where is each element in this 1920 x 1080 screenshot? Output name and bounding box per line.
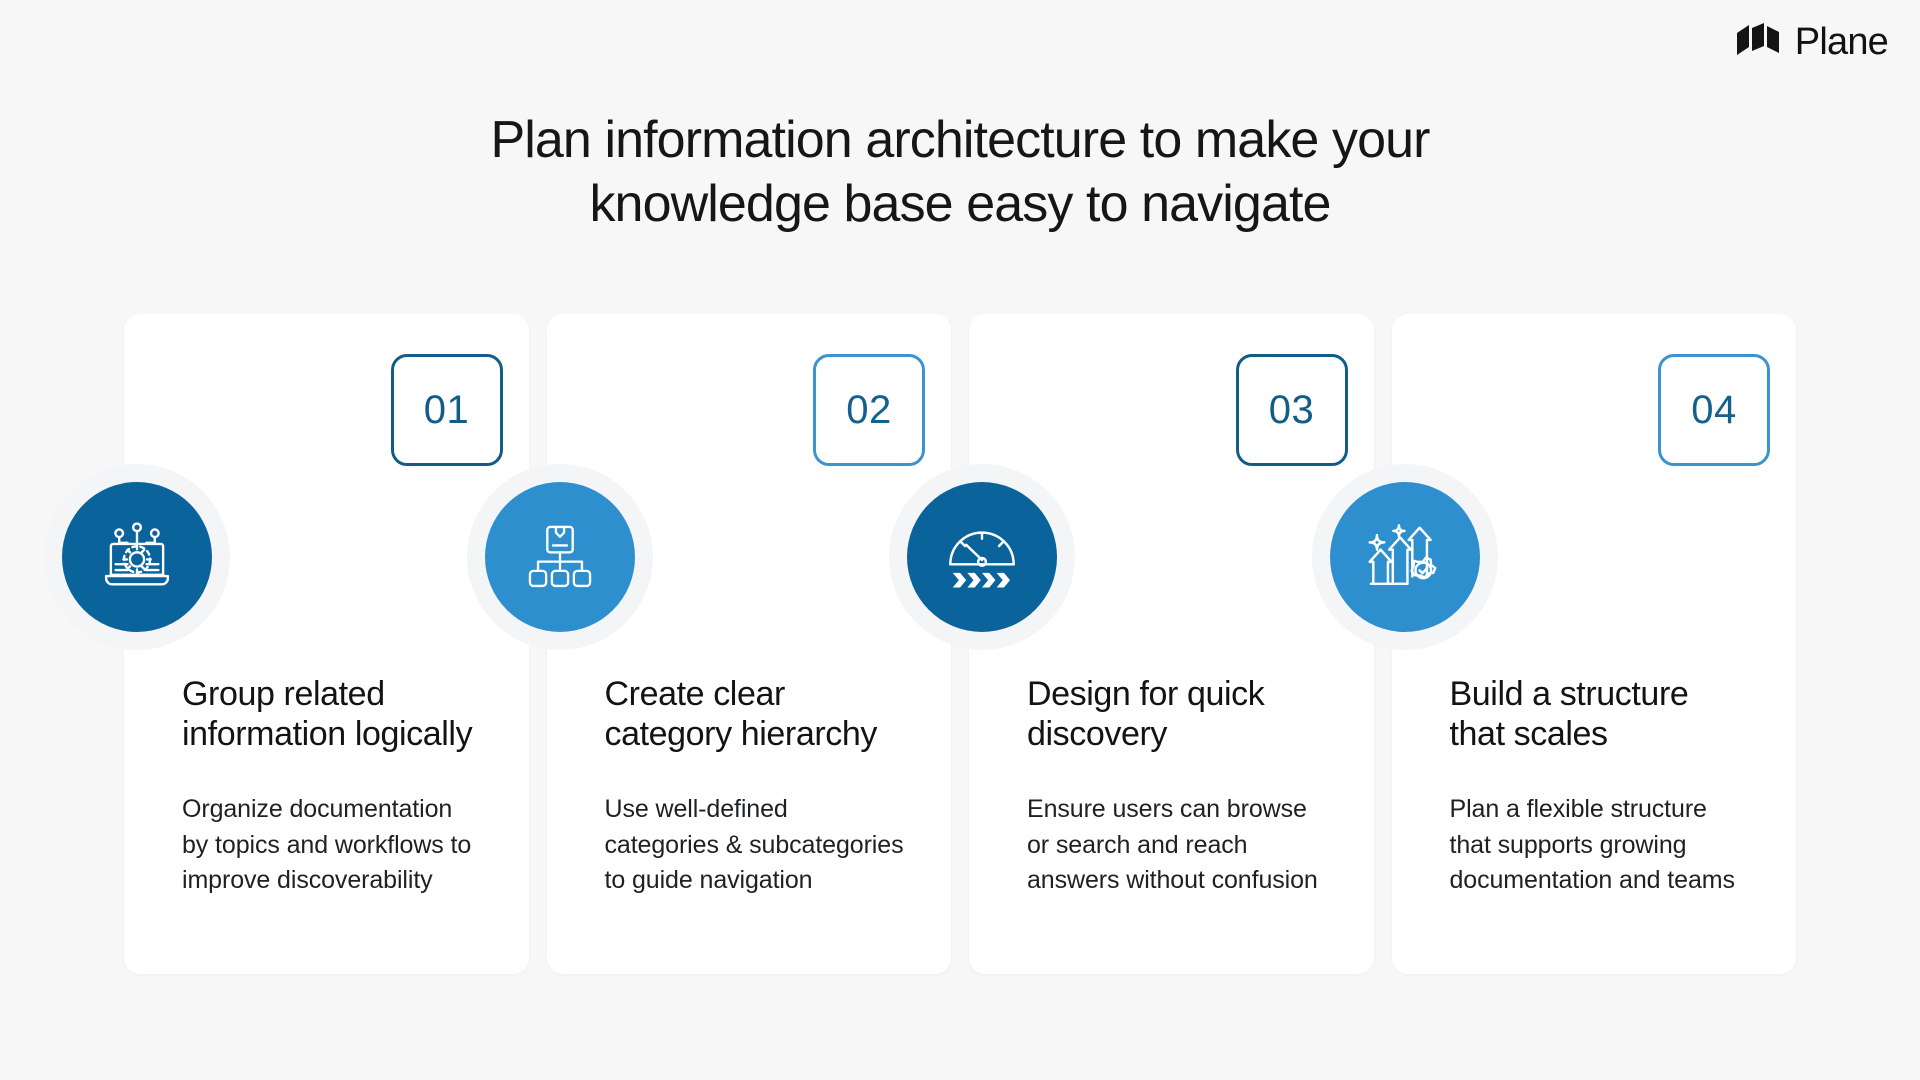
step-card-text: Create clear category hierarchy Use well… xyxy=(605,674,918,899)
step-body: Plan a flexible structure that supports … xyxy=(1450,792,1763,899)
step-heading: Build a structure that scales xyxy=(1450,674,1763,754)
step-card-02: 02 Create clear category hierarchy Use w… xyxy=(547,314,952,974)
step-card-text: Build a structure that scales Plan a fle… xyxy=(1450,674,1763,899)
step-heading: Create clear category hierarchy xyxy=(605,674,918,754)
step-heading: Design for quick discovery xyxy=(1027,674,1340,754)
step-card-04: 04 Build a structure that scales Plan a … xyxy=(1392,314,1797,974)
hierarchy-tree-icon xyxy=(485,482,635,632)
step-card-text: Design for quick discovery Ensure users … xyxy=(1027,674,1340,899)
step-number-badge: 04 xyxy=(1658,354,1770,466)
step-body: Use well-defined categories & subcategor… xyxy=(605,792,918,899)
step-card-list: 01 Group related info xyxy=(124,314,1796,974)
brand-name: Plane xyxy=(1795,23,1888,61)
brand-logo: Plane xyxy=(1736,22,1888,61)
laptop-gear-network-icon xyxy=(62,482,212,632)
step-card-01: 01 Group related info xyxy=(124,314,529,974)
step-card-03: 03 xyxy=(969,314,1374,974)
step-card-text: Group related information logically Orga… xyxy=(182,674,495,899)
page-title-line-1: Plan information architecture to make yo… xyxy=(0,108,1920,172)
step-number-badge: 02 xyxy=(813,354,925,466)
step-body: Ensure users can browse or search and re… xyxy=(1027,792,1340,899)
step-body: Organize documentation by topics and wor… xyxy=(182,792,495,899)
speedometer-gauge-icon xyxy=(907,482,1057,632)
infographic-stage: Plane Plan information architecture to m… xyxy=(0,0,1920,1080)
step-number-badge: 01 xyxy=(391,354,503,466)
page-title-line-2: knowledge base easy to navigate xyxy=(0,172,1920,236)
plane-logo-icon xyxy=(1736,22,1782,61)
page-title: Plan information architecture to make yo… xyxy=(0,108,1920,237)
step-heading: Group related information logically xyxy=(182,674,495,754)
step-number-badge: 03 xyxy=(1236,354,1348,466)
growth-arrows-gear-icon xyxy=(1330,482,1480,632)
